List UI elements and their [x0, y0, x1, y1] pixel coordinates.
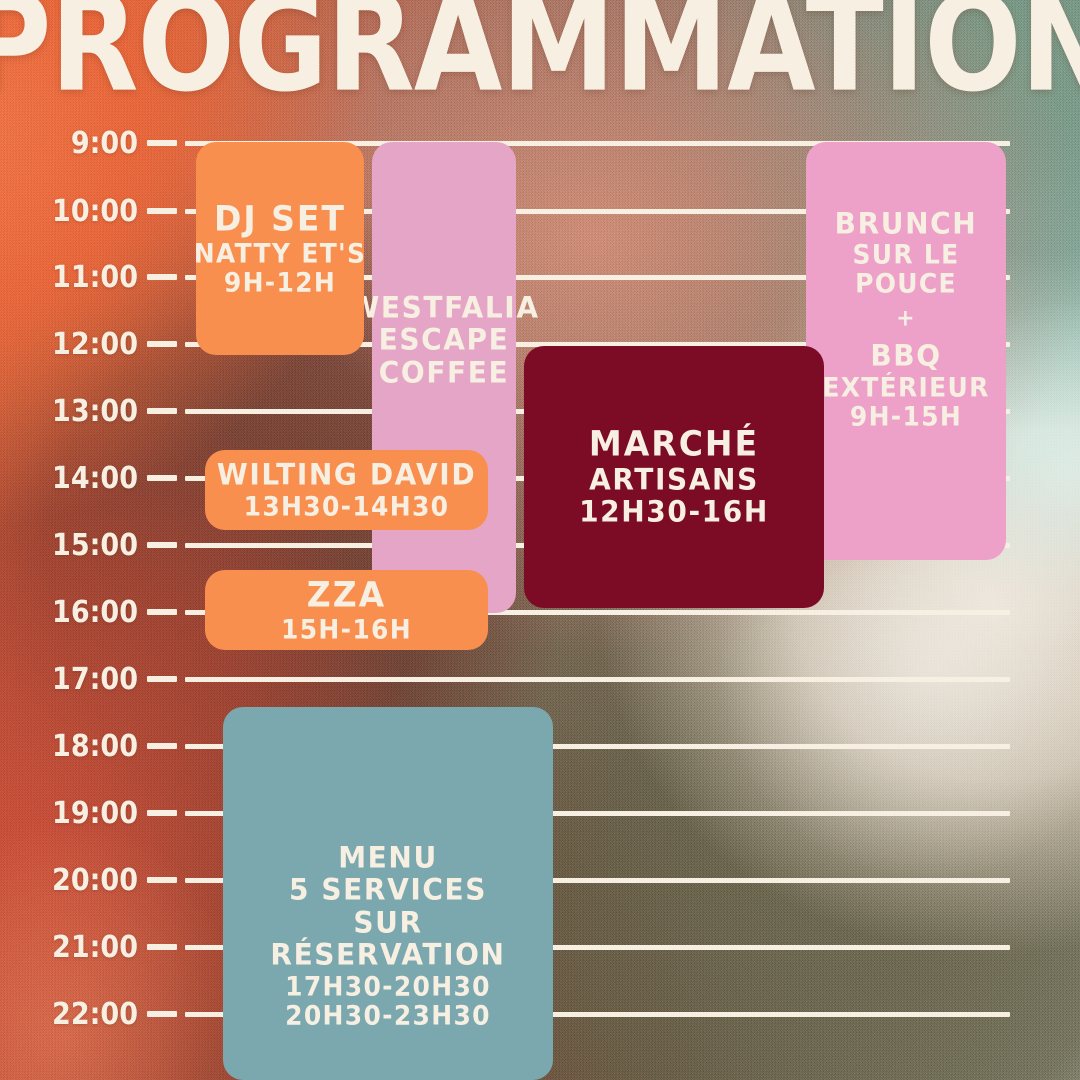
time-tick-2000: 20:00 — [0, 867, 185, 893]
event-line: SUR — [353, 906, 422, 940]
event-line: POUCE — [855, 269, 957, 300]
time-tick-1600: 16:00 — [0, 599, 185, 625]
time-tick-dash-icon — [147, 208, 177, 214]
event-line: ZZA — [307, 575, 386, 616]
event-line: WESTFALIA — [348, 291, 539, 325]
event-card-djset[interactable]: DJ SETNATTY ET'S9H-12H — [196, 142, 364, 355]
event-line: 20H30-23H30 — [285, 1000, 491, 1031]
time-tick-1700: 17:00 — [0, 666, 185, 692]
event-line: 9H-12H — [224, 267, 336, 298]
event-line: DJ SET — [214, 199, 346, 240]
programmation-poster: PROGRAMMATION 9:0010:0011:0012:0013:0014… — [0, 0, 1080, 1080]
event-line: BRUNCH — [835, 207, 978, 241]
event-line: MENU — [338, 841, 438, 875]
time-tick-label: 18:00 — [52, 729, 138, 764]
time-tick-dash-icon — [147, 810, 177, 816]
time-tick-dash-icon — [147, 609, 177, 615]
time-tick-dash-icon — [147, 676, 177, 682]
event-line: BBQ — [870, 339, 941, 373]
time-tick-dash-icon — [147, 341, 177, 347]
time-tick-1100: 11:00 — [0, 264, 185, 290]
time-tick-1800: 18:00 — [0, 733, 185, 759]
time-tick-dash-icon — [147, 542, 177, 548]
event-card-westfalia[interactable]: WESTFALIAESCAPECOFFEE — [372, 142, 516, 613]
event-line: 12H30-16H — [579, 495, 769, 529]
time-tick-label: 22:00 — [52, 997, 138, 1032]
time-tick-label: 10:00 — [52, 194, 138, 229]
event-line: SUR LE — [852, 240, 959, 271]
event-card-menu[interactable]: MENU5 SERVICESSURRÉSERVATION17H30-20H302… — [223, 707, 553, 1080]
time-tick-label: 13:00 — [52, 394, 138, 429]
event-line: 17H30-20H30 — [285, 971, 491, 1002]
time-tick-dash-icon — [147, 944, 177, 950]
time-tick-1300: 13:00 — [0, 398, 185, 424]
event-line: 13H30-14H30 — [244, 491, 450, 522]
time-tick-1500: 15:00 — [0, 532, 185, 558]
time-tick-dash-icon — [147, 743, 177, 749]
time-tick-1200: 12:00 — [0, 331, 185, 357]
event-line: 15H-16H — [281, 614, 412, 645]
event-line: NATTY ET'S — [194, 238, 367, 269]
time-tick-900: 9:00 — [0, 130, 185, 156]
time-tick-dash-icon — [147, 140, 177, 146]
time-tick-label: 11:00 — [52, 260, 138, 295]
time-tick-dash-icon — [147, 1011, 177, 1017]
event-card-wilting-david[interactable]: WILTING DAVID13H30-14H30 — [205, 450, 488, 530]
event-line: ESCAPE — [379, 323, 510, 357]
time-tick-1400: 14:00 — [0, 465, 185, 491]
event-line: EXTÉRIEUR — [822, 372, 989, 403]
time-tick-dash-icon — [147, 877, 177, 883]
event-card-zza[interactable]: ZZA15H-16H — [205, 570, 488, 650]
event-card-brunch[interactable]: BRUNCHSUR LEPOUCE+BBQEXTÉRIEUR9H-15H — [806, 142, 1006, 560]
event-line: 9H-15H — [850, 401, 962, 432]
time-tick-label: 14:00 — [52, 461, 138, 496]
time-tick-2100: 21:00 — [0, 934, 185, 960]
event-line: COFFEE — [379, 356, 509, 390]
time-tick-label: 9:00 — [71, 126, 138, 161]
event-line: + — [896, 297, 916, 341]
event-card-marche[interactable]: MARCHÉARTISANS12H30-16H — [524, 346, 824, 608]
time-tick-label: 19:00 — [52, 796, 138, 831]
time-tick-2200: 22:00 — [0, 1001, 185, 1027]
event-line: RÉSERVATION — [270, 938, 505, 972]
time-tick-dash-icon — [147, 408, 177, 414]
event-line: MARCHÉ — [589, 424, 759, 465]
time-tick-label: 16:00 — [52, 595, 138, 630]
timeline-gridline — [185, 677, 1010, 682]
time-tick-label: 15:00 — [52, 528, 138, 563]
time-tick-label: 12:00 — [52, 327, 138, 362]
time-tick-1900: 19:00 — [0, 800, 185, 826]
time-tick-label: 17:00 — [52, 662, 138, 697]
time-axis: 9:0010:0011:0012:0013:0014:0015:0016:001… — [0, 0, 185, 1080]
time-tick-dash-icon — [147, 274, 177, 280]
time-tick-label: 20:00 — [52, 863, 138, 898]
time-tick-1000: 10:00 — [0, 198, 185, 224]
event-line: ARTISANS — [589, 463, 759, 497]
time-tick-dash-icon — [147, 475, 177, 481]
event-line: WILTING DAVID — [217, 458, 476, 492]
time-tick-label: 21:00 — [52, 930, 138, 965]
event-line: 5 SERVICES — [289, 873, 487, 907]
